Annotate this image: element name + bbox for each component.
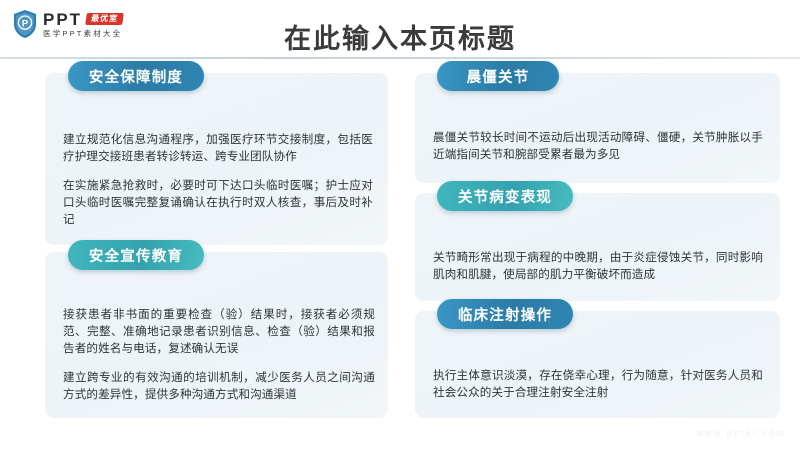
card-left-1-pill[interactable]: 安全保障制度 [68, 61, 204, 91]
card-right-1: 晨僵关节 晨僵关节较长时间不运动后出现活动障碍、僵硬，关节肿胀以手近端指间关节和… [415, 73, 780, 183]
card-right-2: 关节病变表现 关节畸形常出现于病程的中晚期，由于炎症侵蚀关节，同时影响肌肉和肌腱… [415, 193, 780, 301]
card-left-2-paragraph-2: 建立跨专业的有效沟通的培训机制，减少医务人员之间沟通方式的差异性，提供多种沟通方… [63, 369, 375, 403]
card-left-1-paragraph-2: 在实施紧急抢救时，必要时可下达口头临时医嘱；护士应对口头临时医嘱完整复诵确认在执… [63, 177, 373, 228]
footer-watermark: www.ppter.com [696, 428, 786, 438]
slide-canvas: P PPT 最优室 医学PPT素材大全 在此输入本页标题 安全保障制度 建立规范… [0, 0, 800, 450]
card-right-3-pill-label: 临床注射操作 [458, 304, 552, 325]
card-right-2-pill-label: 关节病变表现 [458, 186, 552, 207]
card-right-1-pill-label: 晨僵关节 [467, 66, 530, 87]
card-right-3-pill[interactable]: 临床注射操作 [437, 299, 573, 329]
card-right-1-paragraph-1: 晨僵关节较长时间不运动后出现活动障碍、僵硬，关节肿胀以手近端指间关节和腕部受累者… [433, 129, 763, 163]
card-left-1: 安全保障制度 建立规范化信息沟通程序，加强医疗环节交接制度，包括医疗护理交接班患… [45, 73, 388, 245]
card-left-2-pill-label: 安全宣传教育 [89, 245, 183, 266]
card-left-2: 安全宣传教育 接获患者非书面的重要检查（验）结果时，接获者必须规范、完整、准确地… [45, 252, 388, 418]
card-left-2-paragraph-1: 接获患者非书面的重要检查（验）结果时，接获者必须规范、完整、准确地记录患者识别信… [63, 306, 375, 357]
card-right-1-pill[interactable]: 晨僵关节 [437, 61, 559, 91]
card-right-3-paragraph-1: 执行主体意识淡漠，存在侥幸心理，行为随意，针对医务人员和社会公众的关于合理注射安… [433, 367, 763, 401]
card-right-2-pill[interactable]: 关节病变表现 [437, 181, 573, 211]
card-right-3: 临床注射操作 执行主体意识淡漠，存在侥幸心理，行为随意，针对医务人员和社会公众的… [415, 311, 780, 418]
card-left-2-pill[interactable]: 安全宣传教育 [68, 240, 204, 270]
card-right-2-paragraph-1: 关节畸形常出现于病程的中晚期，由于炎症侵蚀关节，同时影响肌肉和肌腱，使局部的肌力… [433, 249, 763, 283]
header-divider [0, 57, 800, 59]
card-left-1-pill-label: 安全保障制度 [89, 66, 183, 87]
card-left-1-paragraph-1: 建立规范化信息沟通程序，加强医疗环节交接制度，包括医疗护理交接班患者转诊转运、跨… [63, 131, 373, 165]
page-title: 在此输入本页标题 [0, 17, 800, 56]
